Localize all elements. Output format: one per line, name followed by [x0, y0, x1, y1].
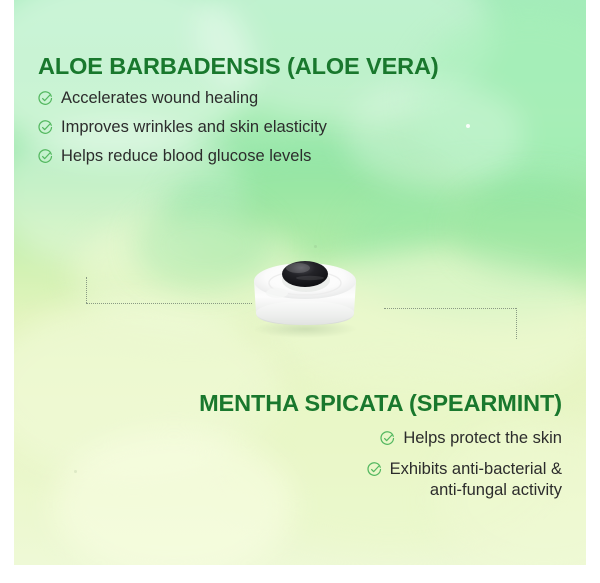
- check-circle-icon: [380, 431, 395, 446]
- check-circle-icon: [367, 462, 382, 477]
- texture-speck: [74, 470, 77, 473]
- section-title-mentha: MENTHA SPICATA (SPEARMINT): [170, 392, 562, 416]
- jar-base-rim: [256, 301, 354, 325]
- leader-horizontal-segment: [384, 308, 516, 309]
- check-circle-icon: [38, 120, 53, 135]
- knob-highlight: [286, 263, 310, 273]
- list-item: Exhibits anti-bacterial & anti-fungal ac…: [170, 459, 562, 501]
- section-aloe: ALOE BARBADENSIS (ALOE VERA) Accelerates…: [38, 55, 439, 167]
- list-item: Helps protect the skin: [170, 428, 562, 449]
- list-item: Improves wrinkles and skin elasticity: [38, 117, 439, 138]
- list-item-label: Helps reduce blood glucose levels: [61, 146, 311, 167]
- texture-speck: [466, 124, 470, 128]
- watercolor-blotch: [454, 180, 586, 280]
- list-item-label: Helps protect the skin: [403, 428, 562, 449]
- leader-vertical-segment: [86, 277, 87, 303]
- section-title-aloe: ALOE BARBADENSIS (ALOE VERA): [38, 55, 439, 79]
- list-item-label: Improves wrinkles and skin elasticity: [61, 117, 327, 138]
- check-circle-icon: [38, 149, 53, 164]
- benefit-list-aloe: Accelerates wound healing Improves wrink…: [38, 88, 439, 167]
- benefit-list-mentha: Helps protect the skin Exhibits anti-bac…: [170, 428, 562, 501]
- texture-speck: [314, 245, 317, 248]
- watercolor-blotch: [344, 170, 586, 320]
- leader-horizontal-segment: [86, 303, 252, 304]
- product-image-cosmetic-jar: [240, 253, 370, 338]
- knob-highlight-lower: [296, 276, 324, 280]
- list-item-label: Exhibits anti-bacterial & anti-fungal ac…: [390, 459, 562, 501]
- check-circle-icon: [38, 91, 53, 106]
- ingredient-infographic: ALOE BARBADENSIS (ALOE VERA) Accelerates…: [0, 0, 600, 583]
- watercolor-blotch: [414, 10, 586, 190]
- list-item: Helps reduce blood glucose levels: [38, 146, 439, 167]
- list-item-label: Accelerates wound healing: [61, 88, 258, 109]
- leader-vertical-segment: [516, 308, 517, 339]
- jar-highlight-dimple: [266, 288, 288, 298]
- list-item: Accelerates wound healing: [38, 88, 439, 109]
- section-mentha: MENTHA SPICATA (SPEARMINT) Helps protect…: [170, 392, 562, 511]
